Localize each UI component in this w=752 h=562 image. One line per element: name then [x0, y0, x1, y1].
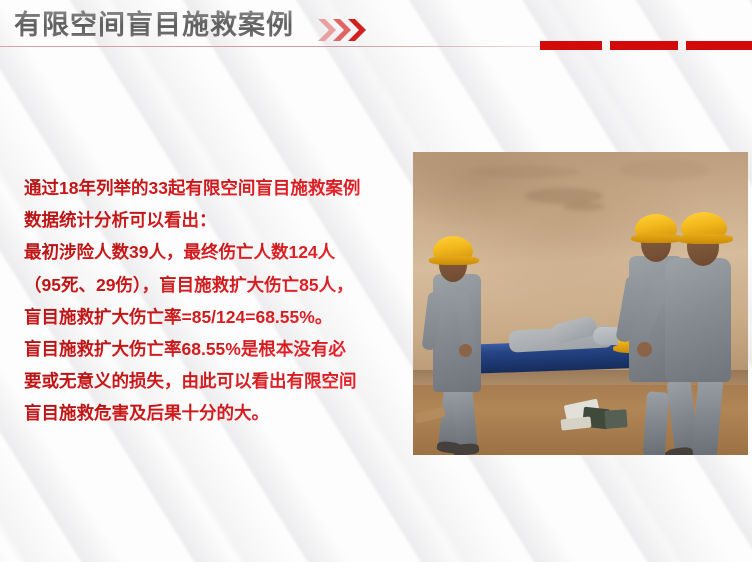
- body-text-line: 要或无意义的损失，由此可以看出有限空间: [24, 365, 416, 397]
- body-text-line: 通过18年列举的33起有限空间盲目施救案例: [24, 172, 416, 204]
- body-text-line: 盲目施救扩大伤亡率68.55%是根本没有必: [24, 333, 416, 365]
- worker-mid-leg: [643, 391, 669, 455]
- page-title: 有限空间盲目施救案例: [14, 9, 294, 41]
- photo-wall-stain: [619, 160, 709, 180]
- header-accent-bars: [540, 41, 752, 50]
- body-text-line: 最初涉险人数39人，最终伤亡人数124人: [24, 236, 416, 268]
- photo-wall-stain: [471, 166, 581, 178]
- rescue-stretcher-photo: [413, 152, 748, 455]
- header-divider-line: [0, 46, 620, 47]
- slide-root: 有限空间盲目施救案例 通过18年列举的33起有限空间盲目施救案例 数据统计分析可…: [0, 0, 752, 562]
- header-accent-bar-2: [610, 41, 678, 50]
- photo-wall-stain: [563, 202, 605, 211]
- worker-left-shoe: [452, 443, 479, 455]
- worker-left-helmet-brim: [429, 256, 479, 265]
- slide-header: 有限空间盲目施救案例: [0, 0, 752, 56]
- worker-right-hand: [637, 342, 652, 357]
- worker-mid-helmet-brim: [631, 234, 683, 243]
- worker-right-helmet-brim: [677, 234, 733, 244]
- body-text-line: 数据统计分析可以看出：: [24, 204, 416, 236]
- header-accent-bar-3: [686, 41, 752, 50]
- body-text-line: （95死、29伤），盲目施救扩大伤亡85人，: [24, 269, 416, 301]
- worker-right-torso: [665, 258, 731, 382]
- body-text-line: 盲目施救危害及后果十分的大。: [24, 397, 416, 429]
- body-text-block: 通过18年列举的33起有限空间盲目施救案例 数据统计分析可以看出： 最初涉险人数…: [24, 172, 416, 430]
- triple-chevron-right-icon: [318, 19, 372, 41]
- header-accent-bar-1: [540, 41, 602, 50]
- body-text-line: 盲目施救扩大伤亡率=85/124=68.55%。: [24, 301, 416, 333]
- ground-debris-equipment: [604, 409, 627, 428]
- worker-left-hand: [459, 344, 472, 357]
